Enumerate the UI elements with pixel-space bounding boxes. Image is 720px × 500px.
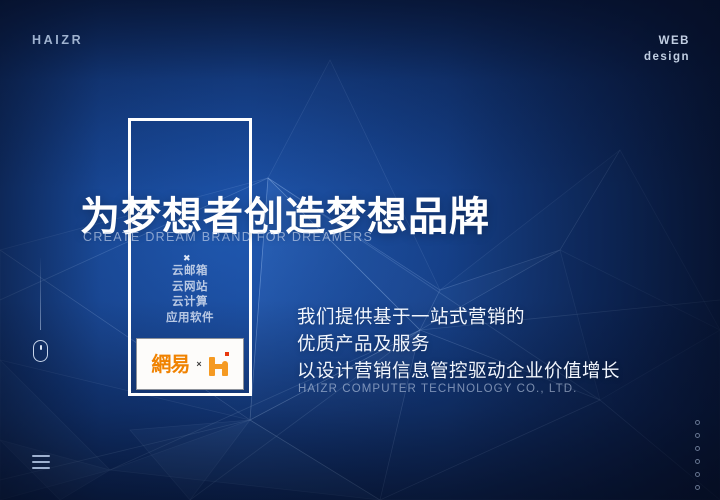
netease-logo: 網易 xyxy=(151,354,189,374)
mouse-wheel-dot xyxy=(40,345,42,350)
service-item-applications[interactable]: 应用软件 xyxy=(128,311,252,327)
cross-icon: ✖ xyxy=(183,253,191,264)
partner-logo-card: 網易 × xyxy=(136,338,244,390)
background-vignette xyxy=(0,0,720,500)
pager-dot[interactable] xyxy=(695,420,700,425)
h-accent-dot xyxy=(225,352,229,356)
service-item-cloud-computing[interactable]: 云计算 xyxy=(128,295,252,311)
mouse-scroll-icon[interactable] xyxy=(33,340,48,362)
frame-right-edge xyxy=(249,118,252,396)
pager-dot[interactable] xyxy=(695,433,700,438)
hero-slide: HAIZR WEB design 为梦想者创造梦想品牌 CREATE DREAM… xyxy=(0,0,720,500)
body-line-3: 以设计营销信息管控驱动企业价值增长 xyxy=(297,357,620,384)
frame-left-edge xyxy=(128,118,131,396)
hamburger-line xyxy=(32,455,50,457)
scroll-rail-line xyxy=(40,258,41,330)
design-label: design xyxy=(644,49,690,65)
service-list: 云邮箱 云网站 云计算 应用软件 xyxy=(128,264,252,326)
pager-dots[interactable] xyxy=(692,420,702,498)
haizr-h-mark-icon xyxy=(209,352,229,376)
body-copy: 我们提供基于一站式营销的 优质产品及服务 以设计营销信息管控驱动企业价值增长 xyxy=(297,303,620,384)
multiply-icon: × xyxy=(196,359,201,369)
frame-bottom-edge xyxy=(128,393,252,396)
web-design-label: WEB design xyxy=(644,33,690,65)
site-logo[interactable]: HAIZR xyxy=(32,33,83,47)
body-line-1: 我们提供基于一站式营销的 xyxy=(297,303,620,330)
service-item-cloud-website[interactable]: 云网站 xyxy=(128,280,252,296)
pager-dot[interactable] xyxy=(695,459,700,464)
frame-top-edge xyxy=(128,118,252,121)
body-line-2: 优质产品及服务 xyxy=(297,330,620,357)
hamburger-line xyxy=(32,461,50,463)
hamburger-menu-icon[interactable] xyxy=(32,455,50,471)
company-name-en: HAIZR COMPUTER TECHNOLOGY CO., LTD. xyxy=(298,383,577,395)
pager-dot[interactable] xyxy=(695,485,700,490)
web-label: WEB xyxy=(644,33,690,49)
h-right-stroke xyxy=(222,361,228,376)
hamburger-line xyxy=(32,467,50,469)
pager-dot[interactable] xyxy=(695,472,700,477)
page-subtitle: CREATE DREAM BRAND FOR DREAMERS xyxy=(83,230,373,244)
service-item-cloud-mail[interactable]: 云邮箱 xyxy=(128,264,252,280)
pager-dot[interactable] xyxy=(695,446,700,451)
